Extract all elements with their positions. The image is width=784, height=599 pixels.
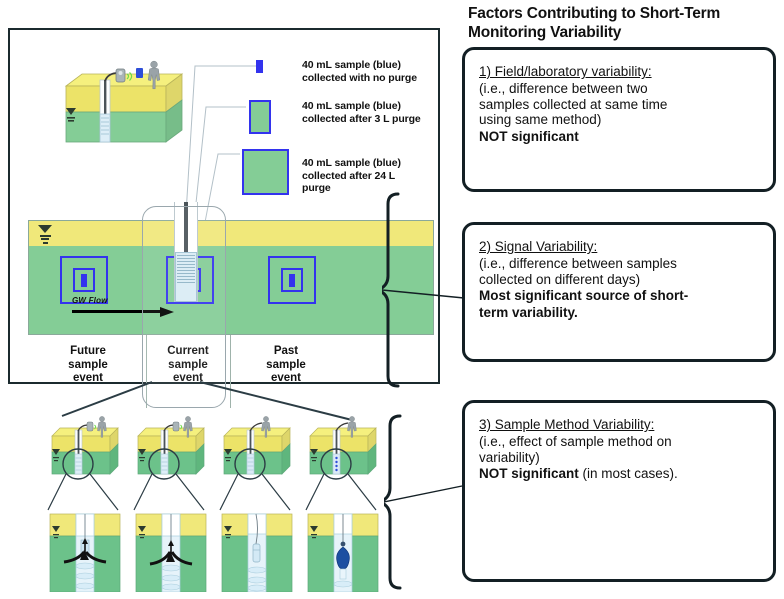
method-4-svg xyxy=(304,414,382,592)
current-event-highlight xyxy=(142,206,226,408)
event-label-future: Future sample event xyxy=(32,345,144,386)
legend-item-2: 40 mL sample (blue) collected after 24 L… xyxy=(242,149,401,195)
sample-method-diagram-3 xyxy=(218,414,296,592)
brace-to-signal-variability xyxy=(382,190,468,390)
factor-1-body: (i.e., difference between two samples co… xyxy=(479,81,761,128)
factor-2-emphasis-text: Most significant source of short- term v… xyxy=(479,288,688,320)
wellhead-block-diagram xyxy=(48,58,188,158)
factor-2-heading: 2) Signal Variability: xyxy=(479,238,761,255)
block-diagram-svg xyxy=(48,58,188,158)
sample-swatch-24l-purge xyxy=(242,149,289,195)
factor-box-field-lab-variability: 1) Field/laboratory variability: (i.e., … xyxy=(462,47,776,192)
sample-swatch-no-purge xyxy=(256,60,263,73)
sample-swatch-3l-purge xyxy=(249,100,271,134)
legend-label-1: 40 mL sample (blue) collected after 3 L … xyxy=(302,100,421,125)
factor-2-emphasis: Most significant source of short- term v… xyxy=(479,288,761,321)
factor-3-body: (i.e., effect of sample method on variab… xyxy=(479,434,761,465)
legend-item-0: 40 mL sample (blue) collected with no pu… xyxy=(242,59,417,84)
column-divider-right xyxy=(230,335,231,408)
method-2-svg xyxy=(132,414,210,592)
factor-2-body: (i.e., difference between samples collec… xyxy=(479,256,761,287)
factor-box-sample-method-variability: 3) Sample Method Variability: (i.e., eff… xyxy=(462,400,776,582)
sample-method-diagram-1 xyxy=(46,414,124,592)
method-3-svg xyxy=(218,414,296,592)
brace-to-sample-method-variability xyxy=(384,412,466,592)
event-label-past: Past sample event xyxy=(234,345,338,386)
legend-item-1: 40 mL sample (blue) collected after 3 L … xyxy=(242,100,421,125)
factor-3-emphasis: NOT significant (in most cases). xyxy=(479,466,761,483)
method-1-svg xyxy=(46,414,124,592)
factor-1-emphasis: NOT significant xyxy=(479,129,761,146)
page-title: Factors Contributing to Short-Term Monit… xyxy=(468,4,778,42)
water-table-symbol xyxy=(38,225,52,244)
main-diagram-panel: 40 mL sample (blue) collected with no pu… xyxy=(8,28,440,384)
legend-label-0: 40 mL sample (blue) collected with no pu… xyxy=(302,59,417,84)
factor-1-heading: 1) Field/laboratory variability: xyxy=(479,63,761,80)
factor-box-signal-variability: 2) Signal Variability: (i.e., difference… xyxy=(462,222,776,362)
factor-1-emphasis-text: NOT significant xyxy=(479,129,579,144)
factor-3-emphasis-text: NOT significant xyxy=(479,466,579,481)
figure-root: 40 mL sample (blue) collected with no pu… xyxy=(0,0,784,599)
cross-section: GW Flow xyxy=(28,220,434,335)
sample-method-diagrams xyxy=(46,414,386,592)
factor-3-heading: 3) Sample Method Variability: xyxy=(479,416,761,433)
sample-method-diagram-2 xyxy=(132,414,210,592)
sample-method-diagram-4 xyxy=(304,414,382,592)
factor-3-emphasis-tail: (in most cases). xyxy=(579,466,678,481)
